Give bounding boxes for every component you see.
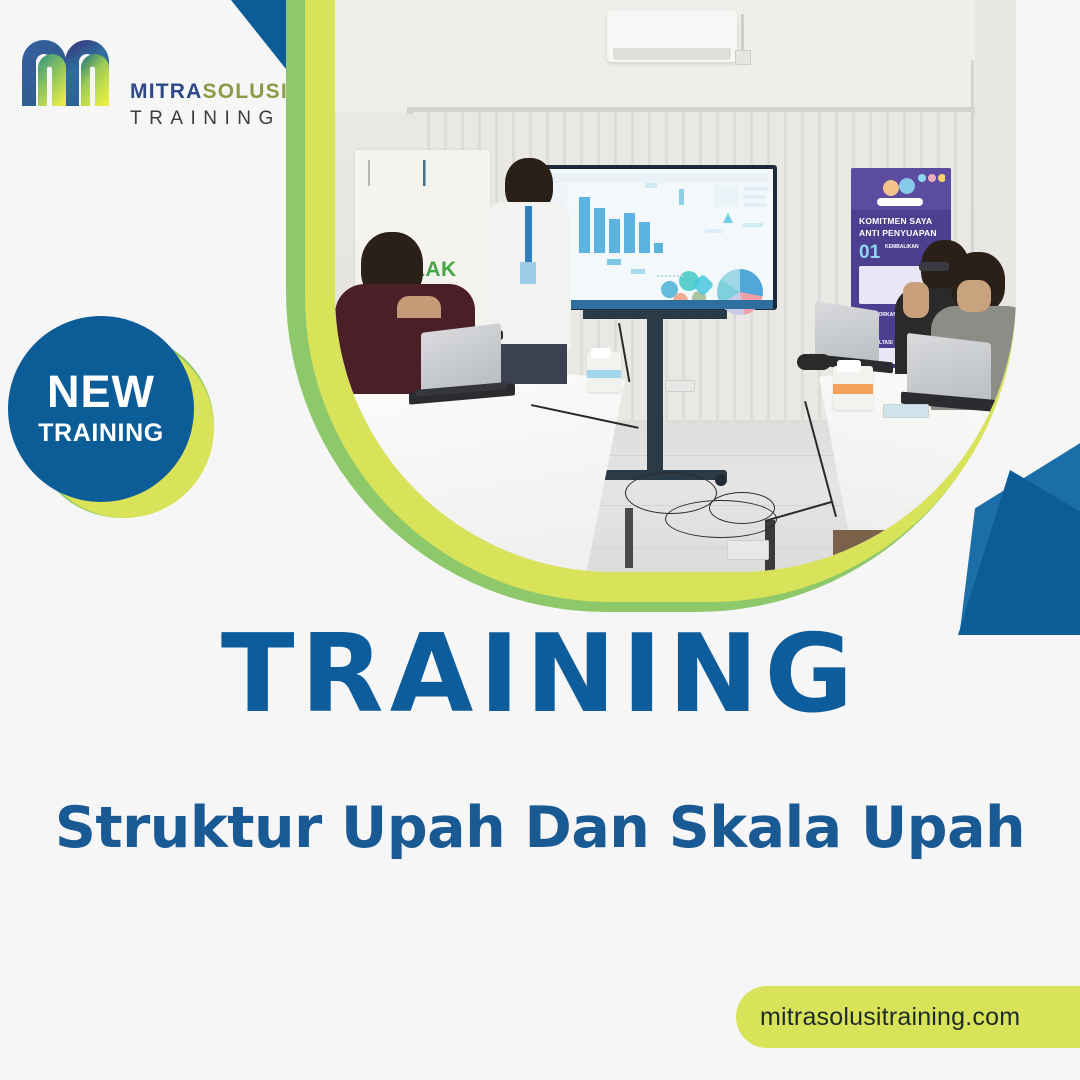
power-strip [727, 540, 769, 560]
bag-item [797, 354, 831, 370]
badge-line1: NEW [47, 370, 155, 414]
website-url: mitrasolusitraining.com [760, 1003, 1020, 1032]
banner-line2: ANTI PENYUAPAN [859, 228, 937, 238]
stand-wheel [715, 474, 727, 486]
poster-canvas: AKHLAK Core Values Amanah Memegang teguh… [0, 0, 1080, 1080]
banner-label-1: KEMBALIKAN [885, 244, 919, 250]
glasses-icon [919, 262, 949, 271]
tissue-band [833, 384, 873, 394]
logo-word-mitra: MITRA [130, 80, 203, 103]
brand-logo[interactable]: MITRASOLUSI TRAINING [18, 28, 278, 112]
logo-wordmark: MITRASOLUSI [130, 80, 288, 104]
presenter-id-card [520, 262, 536, 284]
new-training-badge[interactable]: NEW TRAINING [8, 316, 218, 566]
participant-face [957, 280, 991, 312]
table-leg [625, 508, 633, 568]
badge-line2: TRAINING [38, 419, 164, 448]
badge-blue-circle: NEW TRAINING [8, 316, 194, 502]
display-bottom-bar [545, 300, 773, 309]
banner-number-1: 01 [859, 242, 880, 264]
page-title: TRAINING [0, 612, 1080, 737]
participant-hand [903, 282, 929, 318]
tissue-band [587, 370, 621, 378]
air-conditioner-vent [613, 48, 731, 60]
paper-stack [883, 404, 929, 418]
tissue-sheet [591, 348, 611, 358]
akhlak-banner-logos [363, 160, 483, 186]
display-screen [545, 169, 773, 300]
display-stand-pole [647, 310, 663, 476]
logo-subword: TRAINING [130, 108, 281, 130]
website-pill[interactable]: mitrasolusitraining.com [736, 986, 1080, 1048]
tissue-sheet [837, 360, 861, 372]
presenter-lanyard [525, 206, 532, 266]
logo-word-solusi: SOLUSI [203, 80, 288, 103]
double-arch-m-logo-icon [18, 28, 122, 108]
photo-frame: AKHLAK Core Values Amanah Memegang teguh… [286, 0, 1080, 622]
banner-line1: KOMITMEN SAYA [859, 216, 932, 226]
wall-junction-box [735, 50, 751, 65]
page-subtitle: Struktur Upah Dan Skala Upah [0, 795, 1080, 861]
power-socket [665, 380, 695, 392]
training-room-photo: AKHLAK Core Values Amanah Memegang teguh… [335, 0, 1016, 572]
